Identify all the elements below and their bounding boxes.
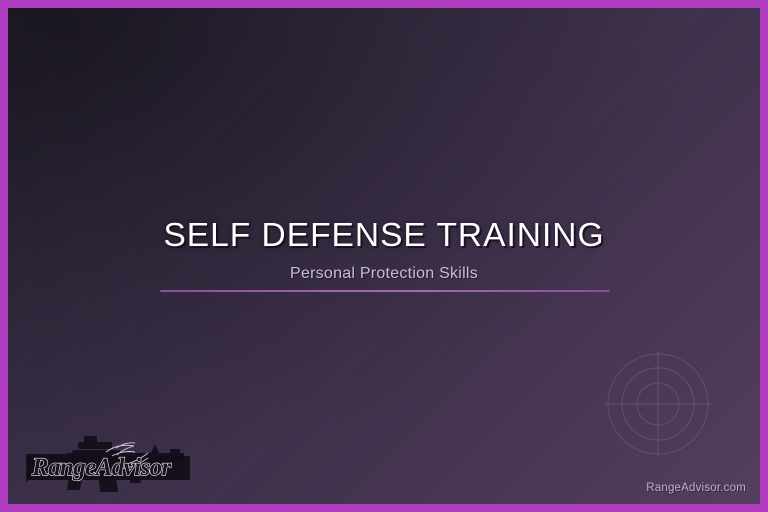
- slide-canvas: SELF DEFENSE TRAINING Personal Protectio…: [8, 8, 760, 504]
- brand-logo-text: RangeAdvisor: [31, 454, 172, 481]
- brand-logo: RangeAdvisor: [20, 434, 198, 496]
- page-subtitle: Personal Protection Skills: [8, 264, 760, 284]
- title-underline-rule: [160, 290, 610, 292]
- crosshair-target-icon: [605, 351, 711, 457]
- site-watermark: RangeAdvisor.com: [646, 482, 746, 494]
- page-title: SELF DEFENSE TRAINING: [8, 216, 760, 256]
- presentation-slide: SELF DEFENSE TRAINING Personal Protectio…: [0, 0, 768, 512]
- title-block: SELF DEFENSE TRAINING Personal Protectio…: [8, 216, 760, 284]
